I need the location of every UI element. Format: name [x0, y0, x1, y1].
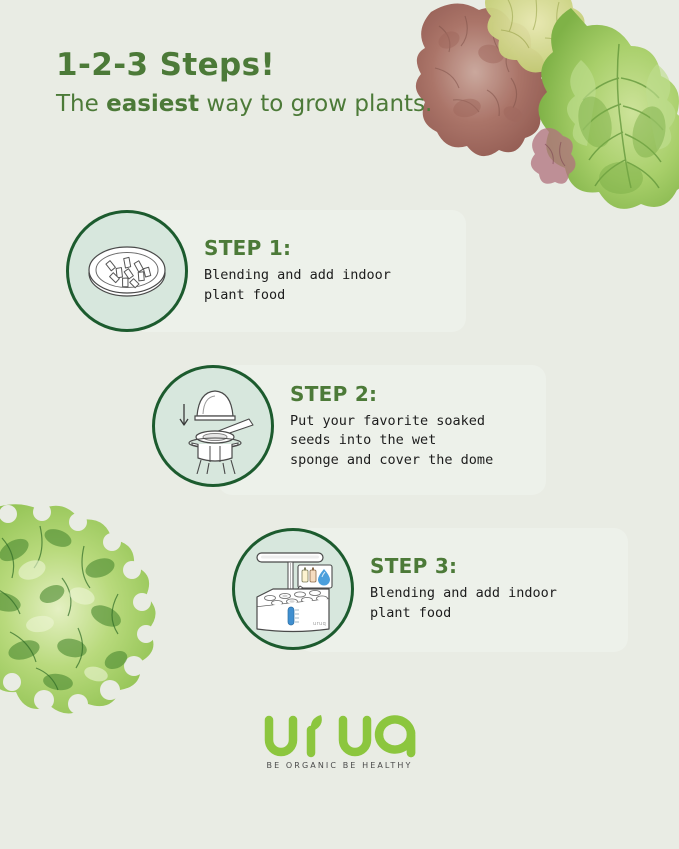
subtitle-emphasis: easiest	[106, 91, 199, 117]
svg-text:uruq: uruq	[313, 621, 326, 627]
step-3-description: Blending and add indoor plant food	[370, 584, 557, 623]
step-1-description: Blending and add indoor plant food	[204, 266, 391, 305]
step-2-text: STEP 2: Put your favorite soaked seeds i…	[290, 382, 499, 471]
step-row-2: STEP 2: Put your favorite soaked seeds i…	[152, 365, 499, 487]
step-row-1: STEP 1: Blending and add indoor plant fo…	[66, 210, 397, 332]
uruq-wordmark-icon	[261, 712, 419, 758]
step-1-text: STEP 1: Blending and add indoor plant fo…	[204, 236, 397, 305]
step-1-title: STEP 1:	[204, 236, 391, 260]
step-row-3: uruq STEP 3: Blending and add indoor pla…	[232, 528, 563, 650]
header-block: 1-2-3 Steps! The easiest way to grow pla…	[56, 48, 526, 118]
step-3-icon-circle: uruq	[232, 528, 354, 650]
subtitle-part-1: The	[56, 91, 106, 117]
step-3-text: STEP 3: Blending and add indoor plant fo…	[370, 554, 563, 623]
subtitle-part-2: way to grow plants.	[199, 91, 432, 117]
page-title: 1-2-3 Steps!	[56, 48, 526, 82]
hydroponic-garden-icon: uruq	[243, 541, 343, 637]
step-2-title: STEP 2:	[290, 382, 493, 406]
step-3-title: STEP 3:	[370, 554, 557, 578]
step-2-icon-circle	[152, 365, 274, 487]
brand-tagline: BE ORGANIC BE HEALTHY	[267, 761, 413, 770]
step-1-icon-circle	[66, 210, 188, 332]
brand-logo: BE ORGANIC BE HEALTHY	[0, 712, 679, 770]
step-2-description: Put your favorite soaked seeds into the …	[290, 412, 493, 471]
lettuce-bottom-left-decoration	[0, 498, 216, 730]
infographic-canvas: 1-2-3 Steps! The easiest way to grow pla…	[0, 0, 679, 849]
page-subtitle: The easiest way to grow plants.	[56, 91, 526, 117]
dome-pod-tweezers-icon	[165, 378, 261, 474]
seed-plate-icon	[81, 225, 173, 317]
